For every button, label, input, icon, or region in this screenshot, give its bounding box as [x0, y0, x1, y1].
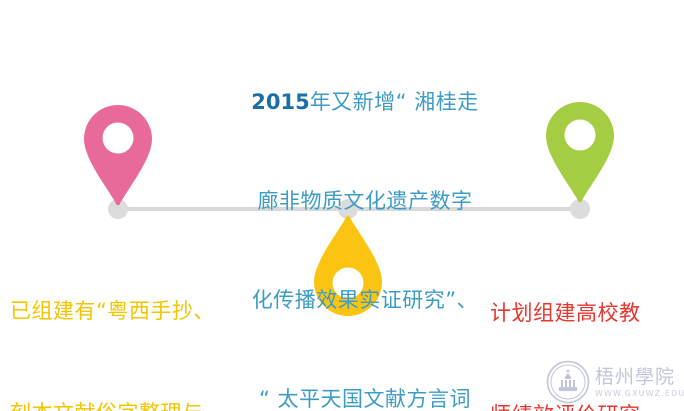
bottom-left-line-2: 刻本文献俗字整理与 — [10, 396, 250, 411]
top-line-3: 化传播效果实证研究”、 — [236, 284, 494, 317]
bottom-left-line-1: 已组建有“粤西手抄、 — [10, 294, 250, 328]
top-line-1: 2015年又新增“ 湘桂走 — [236, 86, 494, 119]
watermark-university-name: 梧州學院 — [595, 366, 684, 388]
watermark-text: 梧州學院 WWW.GXUWZ.EDU.CN — [595, 366, 684, 399]
watermark: 梧州學院 WWW.GXUWZ.EDU.CN — [546, 358, 680, 406]
map-pin-icon-green — [544, 100, 616, 204]
infographic-canvas: 2015年又新增“ 湘桂走 廊非物质文化遗产数字 化传播效果实证研究”、 “ 太… — [0, 0, 684, 411]
top-line-4: “ 太平天国文献方言词 — [236, 383, 494, 411]
text-block-bottom-left: 已组建有“粤西手抄、 刻本文献俗字整理与 研究”、“左江流域 壮语语言文化典藏”… — [10, 226, 250, 411]
map-pin-icon-pink — [82, 103, 154, 207]
top-year-label: 2015 — [251, 90, 309, 114]
text-block-top: 2015年又新增“ 湘桂走 廊非物质文化遗产数字 化传播效果实证研究”、 “ 太… — [236, 20, 494, 411]
top-line-2: 廊非物质文化遗产数字 — [236, 185, 494, 218]
watermark-url: WWW.GXUWZ.EDU.CN — [595, 388, 684, 399]
bottom-right-line-1: 计划组建高校教 — [490, 296, 680, 330]
university-seal-icon — [546, 360, 590, 404]
top-line-1-rest: 年又新增“ 湘桂走 — [310, 90, 479, 114]
